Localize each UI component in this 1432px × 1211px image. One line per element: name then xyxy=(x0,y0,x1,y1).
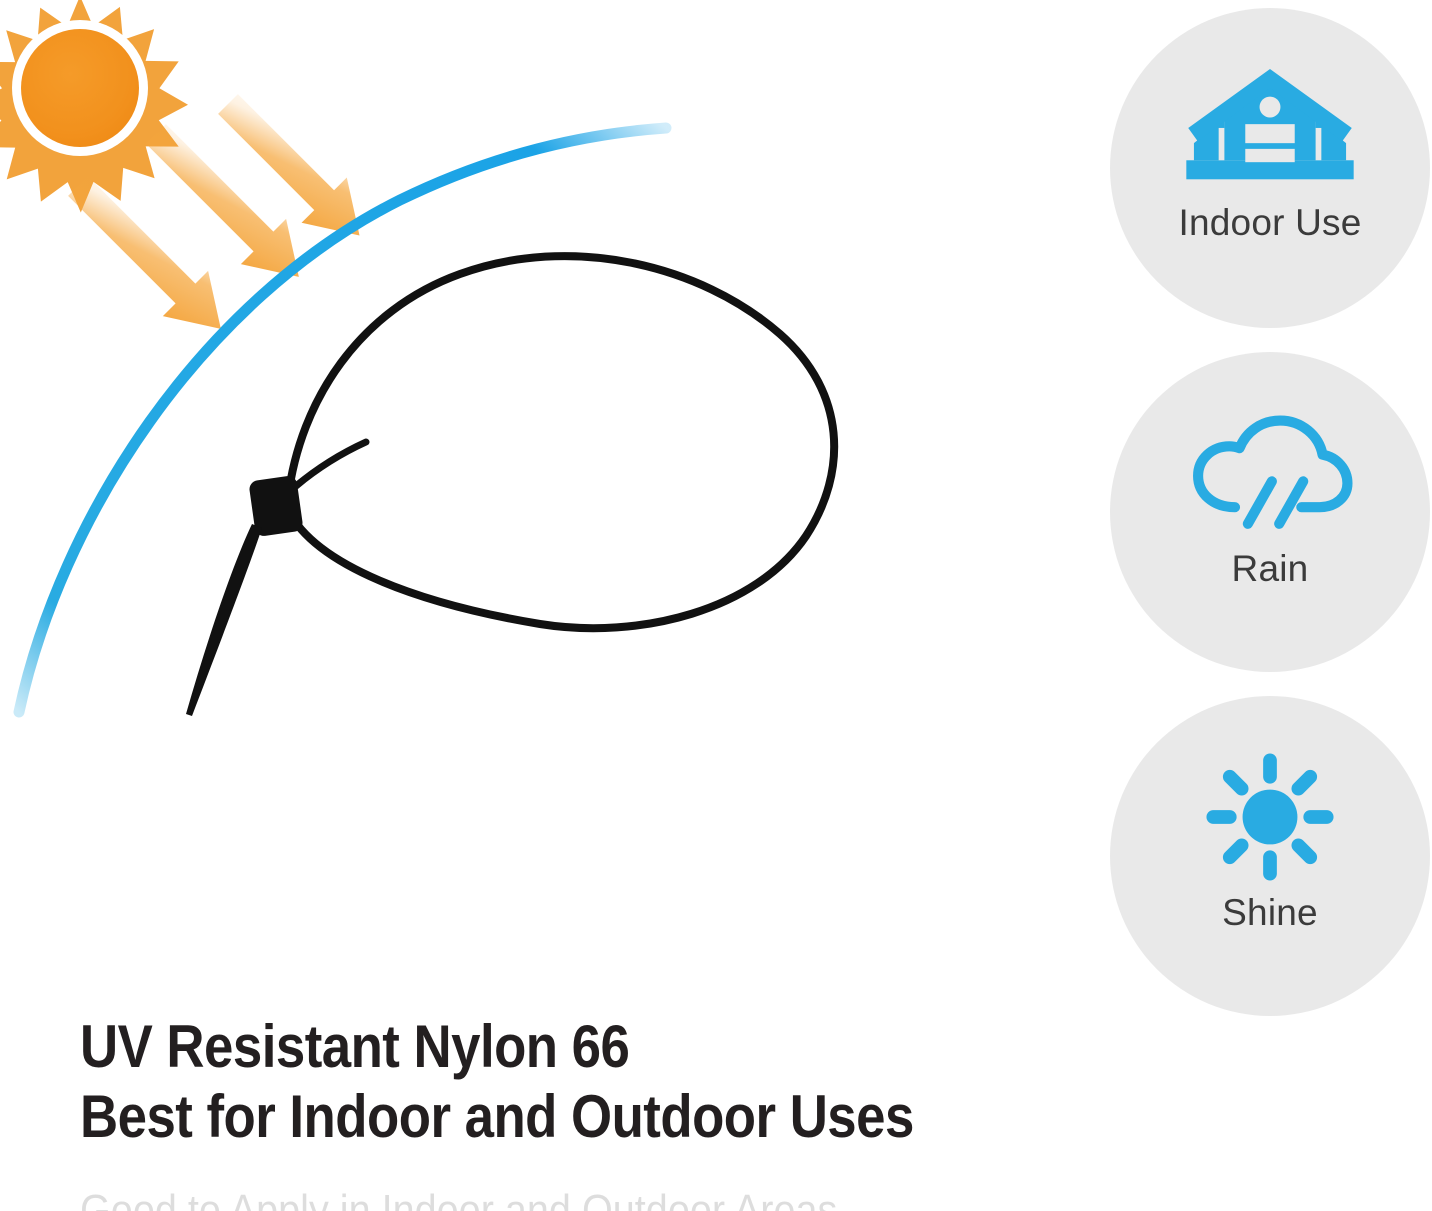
cable-tie-illustration xyxy=(186,256,834,716)
uv-exposure-cable-tie-illustration xyxy=(0,0,1080,1000)
feature-badge-shine[interactable]: Shine xyxy=(1110,696,1430,1016)
rain-cloud-icon xyxy=(1184,414,1356,534)
rain-streak-1 xyxy=(1248,481,1272,523)
sun-shine-icon xyxy=(1184,754,1356,880)
feature-badge-list: Indoor Use Rain xyxy=(1110,0,1432,1020)
sun-icon xyxy=(0,0,188,213)
feature-badge-label: Shine xyxy=(1222,894,1318,931)
headline-line-2: Best for Indoor and Outdoor Uses xyxy=(80,1082,925,1152)
headline-subline-clipped: Good to Apply in Indoor and Outdoor Area… xyxy=(80,1186,1080,1211)
cable-tie-loop xyxy=(288,256,834,628)
cable-tie-strap-entry xyxy=(296,442,366,486)
product-headline: UV Resistant Nylon 66 Best for Indoor an… xyxy=(80,1012,1040,1152)
house-icon xyxy=(1184,66,1356,188)
feature-badge-indoor-use[interactable]: Indoor Use xyxy=(1110,8,1430,328)
headline-subline: Good to Apply in Indoor and Outdoor Area… xyxy=(80,1186,980,1211)
sun-core xyxy=(21,29,139,147)
uv-ray-arrow-3 xyxy=(205,81,382,258)
cable-tie-tail xyxy=(186,524,262,716)
poster-root: Indoor Use Rain xyxy=(0,0,1432,1211)
headline-line-1: UV Resistant Nylon 66 xyxy=(80,1012,925,1082)
feature-badge-rain[interactable]: Rain xyxy=(1110,352,1430,672)
feature-badge-label: Rain xyxy=(1232,550,1309,587)
feature-badge-label: Indoor Use xyxy=(1179,204,1362,241)
